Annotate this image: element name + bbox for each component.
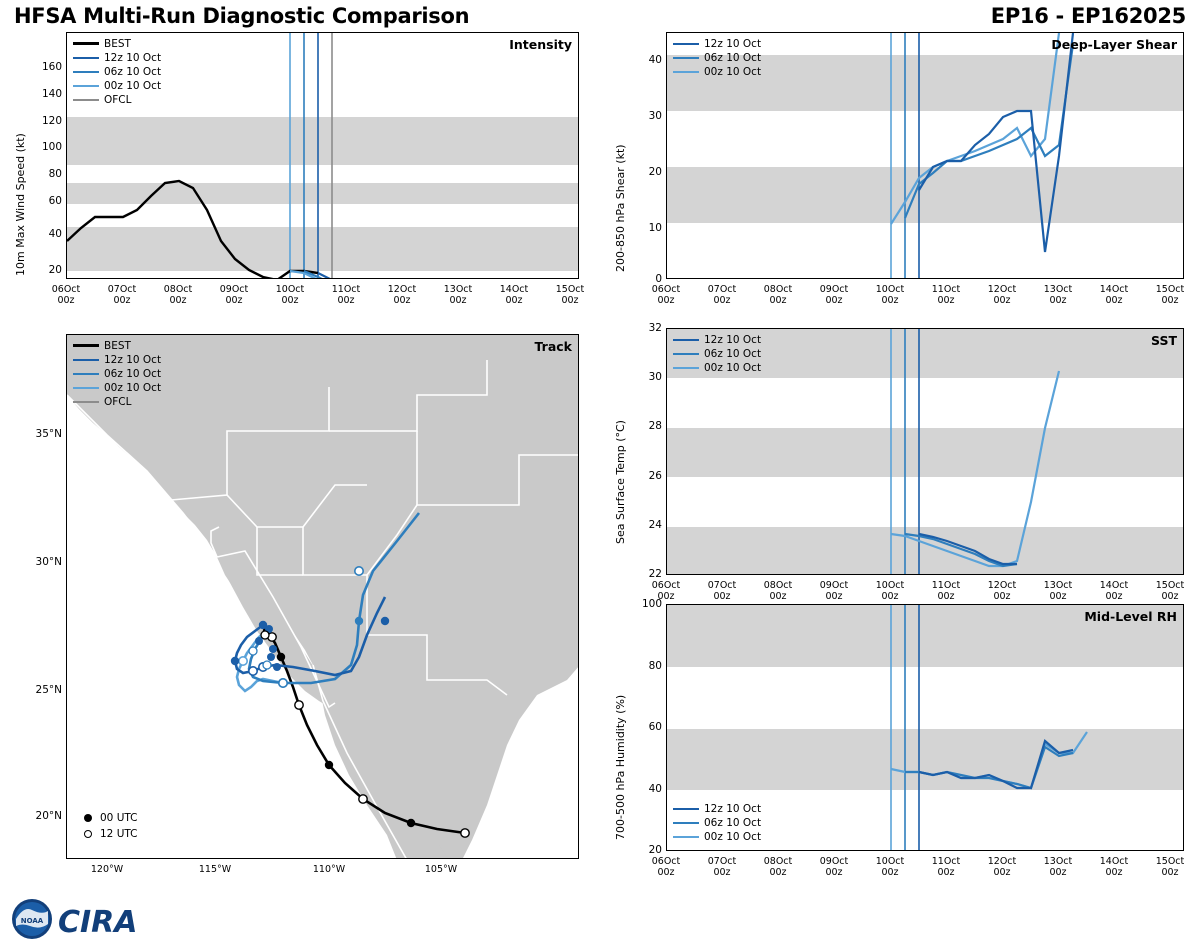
xtick-day: 10Oct: [876, 856, 905, 867]
legend-swatch: [673, 71, 699, 73]
svg-text:NOAA: NOAA: [21, 917, 44, 925]
xtick-hour: 00z: [993, 295, 1010, 306]
legend-item-00z: 00z 10 Oct: [673, 361, 761, 374]
legend-item-06z: 06z 10 Oct: [73, 65, 161, 78]
xtick-day: 13Oct: [1044, 284, 1073, 295]
rh-xtick: 06Oct00z: [646, 856, 686, 878]
sst-ytick: 30: [632, 371, 662, 383]
xtick-day: 08Oct: [164, 284, 193, 295]
sst-legend: 12z 10 Oct 06z 10 Oct 00z 10 Oct: [673, 333, 761, 375]
xtick-day: 14Oct: [1100, 580, 1129, 591]
marker-legend-12utc: 12 UTC: [81, 826, 138, 842]
track-ytick: 30°N: [20, 556, 62, 568]
legend-item-ofcl: OFCL: [73, 395, 161, 408]
xtick-day: 14Oct: [500, 284, 529, 295]
shear-xtick: 10Oct00z: [870, 284, 910, 306]
legend-item-12z: 12z 10 Oct: [673, 37, 761, 50]
marker-label: 00 UTC: [100, 812, 138, 824]
xtick-hour: 00z: [1161, 867, 1178, 878]
intensity-ytick: 160: [30, 61, 62, 73]
xtick-hour: 00z: [1105, 867, 1122, 878]
intensity-xtick: 08Oct00z: [158, 284, 198, 306]
intensity-xtick: 06Oct00z: [46, 284, 86, 306]
legend-label: 00z 10 Oct: [704, 66, 761, 78]
xtick-hour: 00z: [769, 867, 786, 878]
xtick-hour: 00z: [281, 295, 298, 306]
svg-text:CIRA: CIRA: [58, 905, 138, 940]
legend-label: 12z 10 Oct: [104, 354, 161, 366]
xtick-hour: 00z: [113, 295, 130, 306]
xtick-day: 15Oct: [1156, 856, 1185, 867]
legend-label: BEST: [104, 38, 131, 50]
legend-label: 12z 10 Oct: [704, 803, 761, 815]
track-ytick: 25°N: [20, 684, 62, 696]
legend-label: 00z 10 Oct: [704, 831, 761, 843]
legend-item-12z: 12z 10 Oct: [673, 333, 761, 346]
xtick-day: 15Oct: [1156, 284, 1185, 295]
shear-ytick: 30: [632, 110, 662, 122]
xtick-hour: 00z: [1105, 295, 1122, 306]
xtick-day: 13Oct: [444, 284, 473, 295]
legend-swatch: [673, 836, 699, 838]
xtick-hour: 00z: [713, 867, 730, 878]
rh-panel: 700-500 hPa Humidity (%) Mid-Level RH 12…: [600, 598, 1200, 888]
sst-ytick: 28: [632, 420, 662, 432]
legend-swatch: [73, 373, 99, 375]
xtick-hour: 00z: [225, 295, 242, 306]
rh-plot: Mid-Level RH 12z 10 Oct 06z 10 Oct 00z 1…: [666, 604, 1184, 851]
legend-item-00z: 00z 10 Oct: [673, 65, 761, 78]
xtick-hour: 00z: [881, 867, 898, 878]
xtick-day: 15Oct: [1156, 580, 1185, 591]
track-ytick: 20°N: [20, 810, 62, 822]
intensity-ylabel: 10m Max Wind Speed (kt): [14, 133, 27, 276]
rh-xtick: 11Oct00z: [926, 856, 966, 878]
rh-xtick: 15Oct00z: [1150, 856, 1190, 878]
xtick-hour: 00z: [561, 295, 578, 306]
legend-item-00z: 00z 10 Oct: [673, 830, 761, 843]
xtick-day: 12Oct: [988, 284, 1017, 295]
xtick-day: 11Oct: [332, 284, 361, 295]
rh-xtick: 07Oct00z: [702, 856, 742, 878]
legend-label: 06z 10 Oct: [104, 368, 161, 380]
rh-ytick: 60: [632, 721, 662, 733]
marker-label: 12 UTC: [100, 828, 138, 840]
rh-ylabel: 700-500 hPa Humidity (%): [614, 695, 627, 840]
xtick-hour: 00z: [713, 295, 730, 306]
legend-swatch: [73, 71, 99, 73]
legend-swatch: [73, 387, 99, 389]
xtick-day: 07Oct: [108, 284, 137, 295]
track-map-svg: [67, 335, 579, 859]
xtick-day: 13Oct: [1044, 580, 1073, 591]
legend-label: 00z 10 Oct: [104, 382, 161, 394]
legend-label: 00z 10 Oct: [704, 362, 761, 374]
intensity-ytick: 120: [30, 115, 62, 127]
xtick-day: 06Oct: [652, 580, 681, 591]
intensity-ytick: 60: [30, 195, 62, 207]
track-xtick: 115°W: [190, 864, 240, 875]
shear-xtick: 12Oct00z: [982, 284, 1022, 306]
track-legend: BEST 12z 10 Oct 06z 10 Oct 00z 10 Oct OF…: [73, 339, 161, 409]
intensity-panel: 10m Max Wind Speed (kt) Intensity BEST 1…: [0, 26, 590, 326]
xtick-day: 14Oct: [1100, 284, 1129, 295]
shear-xtick: 09Oct00z: [814, 284, 854, 306]
legend-swatch: [673, 57, 699, 59]
legend-item-00z: 00z 10 Oct: [73, 381, 161, 394]
legend-item-12z: 12z 10 Oct: [73, 353, 161, 366]
legend-label: 06z 10 Oct: [104, 66, 161, 78]
sst-plot: SST 12z 10 Oct 06z 10 Oct 00z 10 Oct: [666, 328, 1184, 575]
intensity-ytick: 100: [30, 141, 62, 153]
legend-swatch: [73, 99, 99, 101]
xtick-day: 06Oct: [52, 284, 81, 295]
xtick-day: 09Oct: [820, 856, 849, 867]
legend-swatch: [73, 57, 99, 59]
xtick-day: 12Oct: [988, 580, 1017, 591]
shear-legend: 12z 10 Oct 06z 10 Oct 00z 10 Oct: [673, 37, 761, 79]
shear-xtick: 07Oct00z: [702, 284, 742, 306]
shear-xtick: 15Oct00z: [1150, 284, 1190, 306]
legend-item-06z: 06z 10 Oct: [673, 347, 761, 360]
rh-xtick: 09Oct00z: [814, 856, 854, 878]
legend-swatch: [673, 367, 699, 369]
legend-swatch: [73, 85, 99, 87]
sst-panel: Sea Surface Temp (°C) SST 12z 10 Oct 06z…: [600, 322, 1200, 602]
intensity-ytick: 80: [30, 168, 62, 180]
track-panel: Track BEST 12z 10 Oct 06z 10 Oct 00z 10 …: [0, 322, 590, 882]
legend-swatch: [73, 42, 99, 45]
xtick-hour: 00z: [881, 295, 898, 306]
track-plot: Track BEST 12z 10 Oct 06z 10 Oct 00z 10 …: [66, 334, 579, 859]
xtick-day: 09Oct: [820, 284, 849, 295]
xtick-hour: 00z: [937, 867, 954, 878]
logo-svg: NOAA CIRA: [10, 896, 140, 942]
intensity-xtick: 12Oct00z: [382, 284, 422, 306]
intensity-xtick: 11Oct00z: [326, 284, 366, 306]
xtick-day: 10Oct: [876, 580, 905, 591]
sst-ytick: 26: [632, 470, 662, 482]
shear-ytick: 20: [632, 166, 662, 178]
shear-ylabel: 200-850 hPa Shear (kt): [614, 144, 627, 272]
shear-xtick: 14Oct00z: [1094, 284, 1134, 306]
legend-item-06z: 06z 10 Oct: [673, 816, 761, 829]
rh-xtick: 14Oct00z: [1094, 856, 1134, 878]
legend-swatch: [673, 808, 699, 810]
rh-ytick: 20: [632, 844, 662, 856]
sst-ytick: 24: [632, 519, 662, 531]
legend-swatch: [73, 401, 99, 403]
xtick-hour: 00z: [505, 295, 522, 306]
legend-item-ofcl: OFCL: [73, 93, 161, 106]
rh-xtick: 12Oct00z: [982, 856, 1022, 878]
xtick-day: 06Oct: [652, 856, 681, 867]
shear-ytick: 40: [632, 54, 662, 66]
rh-ytick: 80: [632, 660, 662, 672]
legend-swatch: [673, 822, 699, 824]
legend-label: 00z 10 Oct: [104, 80, 161, 92]
intensity-ytick: 40: [30, 228, 62, 240]
legend-label: BEST: [104, 340, 131, 352]
track-xtick: 120°W: [82, 864, 132, 875]
legend-item-12z: 12z 10 Oct: [673, 802, 761, 815]
legend-label: OFCL: [104, 396, 132, 408]
xtick-day: 07Oct: [708, 580, 737, 591]
xtick-hour: 00z: [449, 295, 466, 306]
rh-ytick: 100: [632, 598, 662, 610]
intensity-xtick: 13Oct00z: [438, 284, 478, 306]
legend-swatch: [673, 339, 699, 341]
sst-ytick: 22: [632, 568, 662, 580]
sst-ytick: 32: [632, 322, 662, 334]
track-xtick: 110°W: [304, 864, 354, 875]
xtick-day: 08Oct: [764, 580, 793, 591]
storm-id-title: EP16 - EP162025: [991, 4, 1186, 28]
intensity-legend: BEST 12z 10 Oct 06z 10 Oct 00z 10 Oct OF…: [73, 37, 161, 107]
track-panel-label: Track: [535, 339, 572, 354]
shear-plot: Deep-Layer Shear 12z 10 Oct 06z 10 Oct 0…: [666, 32, 1184, 279]
sst-ylabel: Sea Surface Temp (°C): [614, 420, 627, 544]
xtick-hour: 00z: [337, 295, 354, 306]
xtick-day: 07Oct: [708, 284, 737, 295]
xtick-day: 07Oct: [708, 856, 737, 867]
legend-label: 06z 10 Oct: [704, 52, 761, 64]
xtick-day: 11Oct: [932, 284, 961, 295]
legend-item-best: BEST: [73, 339, 161, 352]
legend-item-12z: 12z 10 Oct: [73, 51, 161, 64]
intensity-xtick: 10Oct00z: [270, 284, 310, 306]
xtick-day: 11Oct: [932, 856, 961, 867]
intensity-xtick: 15Oct00z: [550, 284, 590, 306]
rh-xtick: 13Oct00z: [1038, 856, 1078, 878]
open-circle-icon: [84, 830, 92, 838]
track-ytick: 35°N: [20, 428, 62, 440]
legend-label: 12z 10 Oct: [704, 38, 761, 50]
intensity-xtick: 07Oct00z: [102, 284, 142, 306]
legend-swatch: [73, 359, 99, 361]
page-title: HFSA Multi-Run Diagnostic Comparison: [14, 4, 469, 28]
rh-legend: 12z 10 Oct 06z 10 Oct 00z 10 Oct: [673, 802, 761, 844]
xtick-day: 15Oct: [556, 284, 585, 295]
shear-xtick: 06Oct00z: [646, 284, 686, 306]
shear-ytick: 10: [632, 222, 662, 234]
intensity-ytick: 20: [30, 264, 62, 276]
xtick-day: 11Oct: [932, 580, 961, 591]
xtick-hour: 00z: [169, 295, 186, 306]
legend-swatch: [673, 353, 699, 355]
xtick-day: 10Oct: [276, 284, 305, 295]
xtick-day: 12Oct: [388, 284, 417, 295]
xtick-hour: 00z: [769, 295, 786, 306]
shear-xtick: 13Oct00z: [1038, 284, 1078, 306]
legend-label: 12z 10 Oct: [704, 334, 761, 346]
xtick-hour: 00z: [825, 867, 842, 878]
xtick-day: 13Oct: [1044, 856, 1073, 867]
track-xtick: 105°W: [416, 864, 466, 875]
rh-xtick: 08Oct00z: [758, 856, 798, 878]
legend-swatch: [673, 43, 699, 45]
legend-item-06z: 06z 10 Oct: [673, 51, 761, 64]
rh-panel-label: Mid-Level RH: [1084, 609, 1177, 624]
intensity-xtick: 09Oct00z: [214, 284, 254, 306]
xtick-hour: 00z: [57, 295, 74, 306]
xtick-day: 08Oct: [764, 856, 793, 867]
xtick-hour: 00z: [1049, 867, 1066, 878]
legend-item-best: BEST: [73, 37, 161, 50]
xtick-day: 12Oct: [988, 856, 1017, 867]
xtick-hour: 00z: [657, 867, 674, 878]
intensity-panel-label: Intensity: [509, 37, 572, 52]
xtick-day: 06Oct: [652, 284, 681, 295]
shear-xtick: 11Oct00z: [926, 284, 966, 306]
xtick-day: 10Oct: [876, 284, 905, 295]
rh-xtick: 10Oct00z: [870, 856, 910, 878]
legend-item-00z: 00z 10 Oct: [73, 79, 161, 92]
sst-panel-label: SST: [1151, 333, 1177, 348]
legend-swatch: [73, 344, 99, 347]
legend-item-06z: 06z 10 Oct: [73, 367, 161, 380]
legend-label: 06z 10 Oct: [704, 348, 761, 360]
xtick-day: 09Oct: [220, 284, 249, 295]
legend-label: OFCL: [104, 94, 132, 106]
legend-label: 12z 10 Oct: [104, 52, 161, 64]
xtick-hour: 00z: [993, 867, 1010, 878]
intensity-plot: Intensity BEST 12z 10 Oct 06z 10 Oct 00z…: [66, 32, 579, 279]
shear-panel-label: Deep-Layer Shear: [1051, 37, 1177, 52]
track-marker-legend: 00 UTC 12 UTC: [81, 810, 138, 842]
shear-panel: 200-850 hPa Shear (kt) Deep-Layer Shear …: [600, 26, 1200, 326]
rh-ytick: 40: [632, 783, 662, 795]
xtick-day: 09Oct: [820, 580, 849, 591]
intensity-ytick: 140: [30, 88, 62, 100]
xtick-hour: 00z: [657, 295, 674, 306]
marker-legend-00utc: 00 UTC: [81, 810, 138, 826]
xtick-hour: 00z: [1161, 295, 1178, 306]
intensity-xtick: 14Oct00z: [494, 284, 534, 306]
xtick-hour: 00z: [1049, 295, 1066, 306]
xtick-hour: 00z: [393, 295, 410, 306]
legend-label: 06z 10 Oct: [704, 817, 761, 829]
xtick-day: 14Oct: [1100, 856, 1129, 867]
shear-xtick: 08Oct00z: [758, 284, 798, 306]
xtick-day: 08Oct: [764, 284, 793, 295]
xtick-hour: 00z: [825, 295, 842, 306]
filled-circle-icon: [84, 814, 92, 822]
xtick-hour: 00z: [937, 295, 954, 306]
